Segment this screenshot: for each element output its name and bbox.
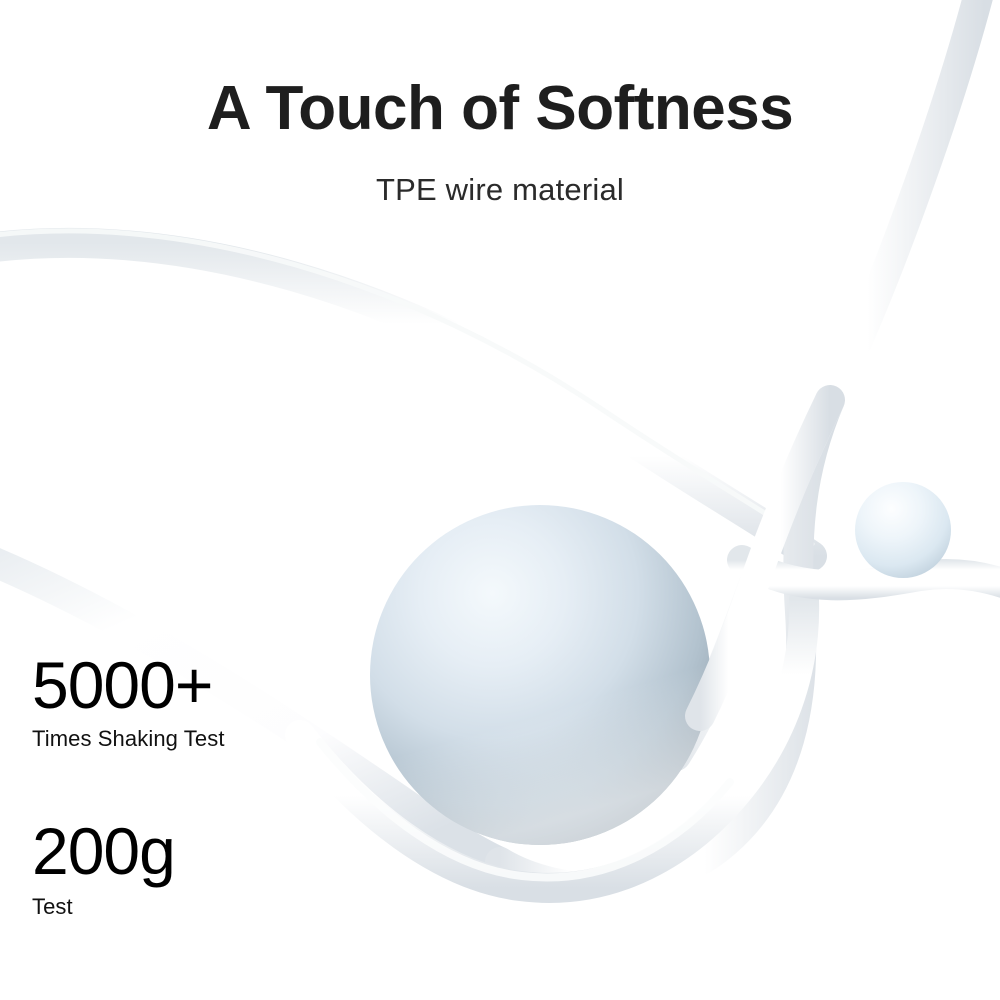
stat-value: 5000+ (32, 652, 225, 718)
stat-block-shaking-test: 5000+ Times Shaking Test (32, 652, 225, 752)
stat-value: 200g (32, 818, 175, 884)
page-subtitle: TPE wire material (0, 172, 1000, 208)
top-left-arc-cable (0, 231, 812, 556)
stat-label: Times Shaking Test (32, 726, 225, 752)
stat-label: Test (32, 894, 175, 920)
small-blue-sphere (855, 482, 951, 578)
page-title: A Touch of Softness (0, 76, 1000, 141)
product-feature-banner: A Touch of Softness TPE wire material 50… (0, 0, 1000, 1000)
large-blue-sphere (370, 505, 710, 845)
stat-block-weight-test: 200g Test (32, 818, 175, 920)
